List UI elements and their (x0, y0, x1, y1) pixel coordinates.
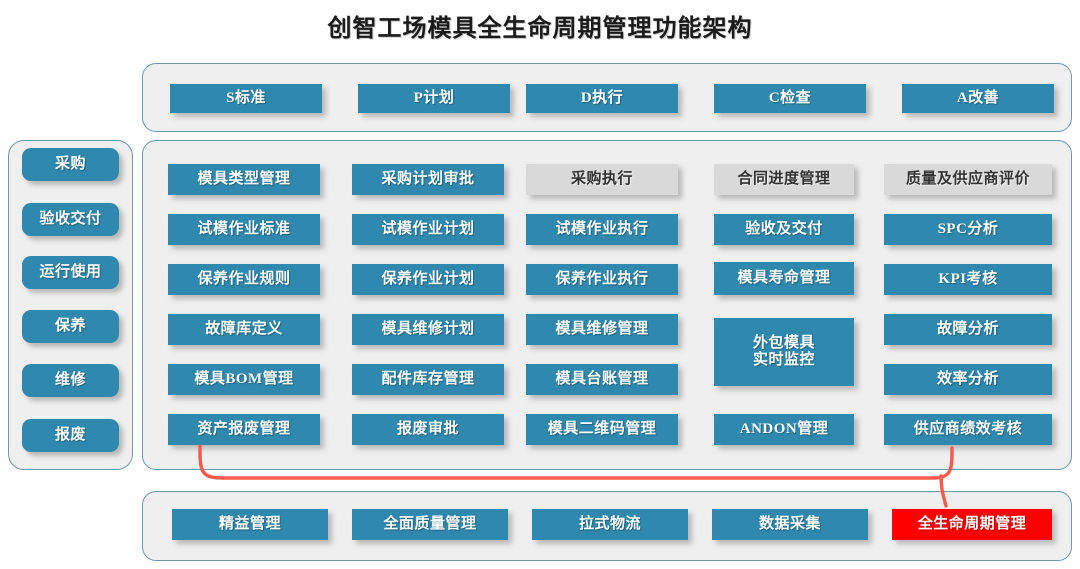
foundation-pull-logistics[interactable]: 拉式物流 (532, 509, 688, 540)
cell-maintenance-work-plan[interactable]: 保养作业计划 (352, 264, 504, 295)
cell-purchase-plan-approval[interactable]: 采购计划审批 (352, 164, 504, 195)
cell-maintenance-work-execution[interactable]: 保养作业执行 (526, 264, 678, 295)
sidebar-item-acceptance-delivery[interactable]: 验收交付 (22, 203, 119, 236)
phase-button-d[interactable]: D执行 (526, 84, 678, 113)
cell-mold-ledger-management[interactable]: 模具台账管理 (526, 364, 678, 395)
cell-efficiency-analysis[interactable]: 效率分析 (884, 364, 1052, 395)
page-title: 创智工场模具全生命周期管理功能架构 (0, 8, 1080, 43)
sidebar-item-scrapping[interactable]: 报废 (22, 419, 119, 452)
phase-button-p[interactable]: P计划 (358, 84, 510, 113)
cell-mold-bom-management[interactable]: 模具BOM管理 (168, 364, 320, 395)
cell-mold-type-management[interactable]: 模具类型管理 (168, 164, 320, 195)
sidebar-item-procurement[interactable]: 采购 (22, 148, 119, 181)
cell-mold-repair-plan[interactable]: 模具维修计划 (352, 314, 504, 345)
cell-trial-mold-work-standard[interactable]: 试模作业标准 (168, 214, 320, 245)
cell-mold-life-management[interactable]: 模具寿命管理 (714, 262, 854, 295)
cell-kpi-assessment[interactable]: KPI考核 (884, 264, 1052, 295)
phase-button-s[interactable]: S标准 (170, 84, 322, 113)
cell-fault-analysis[interactable]: 故障分析 (884, 314, 1052, 345)
cell-outsourced-mold-realtime-monitoring[interactable]: 外包模具 实时监控 (714, 318, 854, 386)
foundation-data-collection[interactable]: 数据采集 (712, 509, 868, 540)
phase-button-c[interactable]: C检查 (714, 84, 866, 113)
cell-maintenance-work-rules[interactable]: 保养作业规则 (168, 264, 320, 295)
cell-andon-management[interactable]: ANDON管理 (714, 414, 854, 445)
cell-trial-mold-work-plan[interactable]: 试模作业计划 (352, 214, 504, 245)
cell-fault-library-definition[interactable]: 故障库定义 (168, 314, 320, 345)
cell-asset-scrapping-management[interactable]: 资产报废管理 (168, 414, 320, 445)
cell-spc-analysis[interactable]: SPC分析 (884, 214, 1052, 245)
cell-supplier-performance-assessment[interactable]: 供应商绩效考核 (884, 414, 1052, 445)
cell-purchase-execution[interactable]: 采购执行 (526, 164, 678, 195)
cell-quality-and-supplier-evaluation[interactable]: 质量及供应商评价 (884, 164, 1052, 195)
phase-button-a[interactable]: A改善 (902, 84, 1054, 113)
sidebar-item-operation-usage[interactable]: 运行使用 (22, 256, 119, 289)
cell-spare-parts-inventory-management[interactable]: 配件库存管理 (352, 364, 504, 395)
foundation-full-lifecycle-management[interactable]: 全生命周期管理 (892, 509, 1052, 540)
cell-scrapping-approval[interactable]: 报废审批 (352, 414, 504, 445)
foundation-lean-management[interactable]: 精益管理 (172, 509, 328, 540)
cell-mold-qrcode-management[interactable]: 模具二维码管理 (526, 414, 678, 445)
foundation-total-quality-management[interactable]: 全面质量管理 (352, 509, 508, 540)
cell-contract-progress-management[interactable]: 合同进度管理 (714, 164, 854, 195)
cell-trial-mold-work-execution[interactable]: 试模作业执行 (526, 214, 678, 245)
sidebar-item-maintenance-care[interactable]: 保养 (22, 310, 119, 343)
cell-acceptance-and-delivery[interactable]: 验收及交付 (714, 214, 854, 245)
sidebar-item-repair[interactable]: 维修 (22, 364, 119, 397)
cell-mold-repair-management[interactable]: 模具维修管理 (526, 314, 678, 345)
